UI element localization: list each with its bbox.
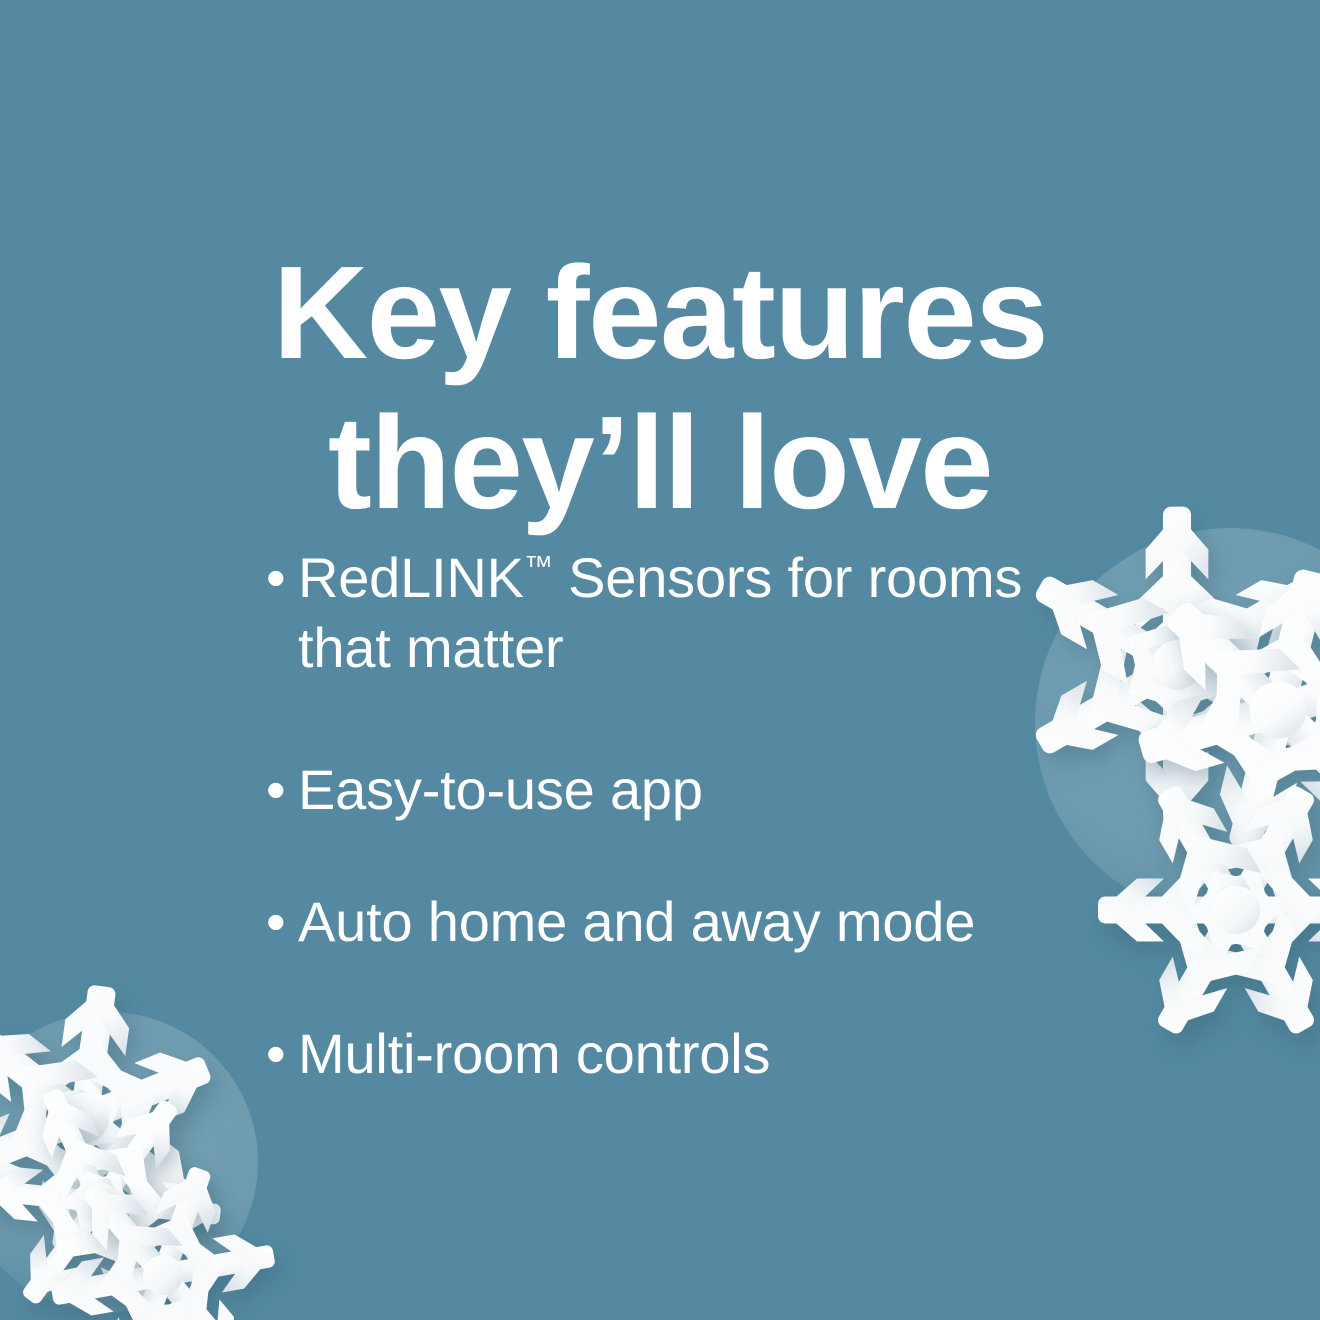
bullet-marker-icon: • [266, 755, 298, 825]
list-item: • Auto home and away mode [266, 887, 1076, 957]
list-item-label: RedLINK™ Sensors for rooms that matter [298, 543, 1076, 683]
list-item-label: Easy-to-use app [298, 755, 1076, 825]
bullet-marker-icon: • [266, 887, 298, 957]
list-item-label-main: RedLINK [298, 546, 524, 609]
trademark-icon: ™ [524, 551, 553, 583]
page-title: Key features they’ll love [0, 238, 1320, 536]
bullet-marker-icon: • [266, 1019, 298, 1089]
list-item-label: Auto home and away mode [298, 887, 1076, 957]
list-item: • Multi-room controls [266, 1019, 1076, 1089]
list-item-label: Multi-room controls [298, 1019, 1076, 1089]
list-item: • Easy-to-use app [266, 755, 1076, 825]
bullet-marker-icon: • [266, 543, 298, 613]
feature-list: • RedLINK™ Sensors for rooms that matter… [266, 543, 1076, 1089]
promo-slide: Key features they’ll love • RedLINK™ Sen… [0, 0, 1320, 1320]
list-item: • RedLINK™ Sensors for rooms that matter [266, 543, 1076, 683]
